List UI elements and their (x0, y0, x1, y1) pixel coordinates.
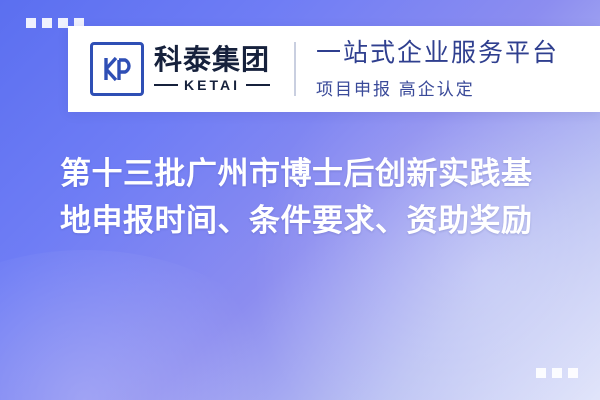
background-glow-left (0, 250, 300, 400)
logo-rule-left (154, 84, 178, 86)
vertical-divider (294, 42, 296, 96)
logo-rule-right (246, 84, 270, 86)
dot-grid-icon (536, 368, 578, 378)
headline-line-2: 地申报时间、条件要求、资助奖励 (60, 197, 590, 244)
headline-line-1: 第十三批广州市博士后创新实践基 (60, 150, 590, 197)
header-title: 一站式企业服务平台 (316, 38, 559, 69)
header-subtitle: 项目申报 高企认定 (316, 75, 559, 100)
logo-subname-row: KETAI (154, 77, 270, 93)
logo: 科泰集团 KETAI (68, 42, 288, 96)
headline: 第十三批广州市博士后创新实践基 地申报时间、条件要求、资助奖励 (60, 150, 590, 244)
kp-monogram-icon (90, 42, 144, 96)
promo-banner: 科泰集团 KETAI 一站式企业服务平台 项目申报 高企认定 第十三批广州市博士… (0, 0, 600, 400)
header-card: 科泰集团 KETAI 一站式企业服务平台 项目申报 高企认定 (68, 26, 600, 112)
logo-name: 科泰集团 (154, 45, 270, 74)
logo-subname: KETAI (184, 77, 240, 93)
logo-text: 科泰集团 KETAI (154, 45, 270, 93)
header-text-block: 一站式企业服务平台 项目申报 高企认定 (316, 38, 559, 100)
